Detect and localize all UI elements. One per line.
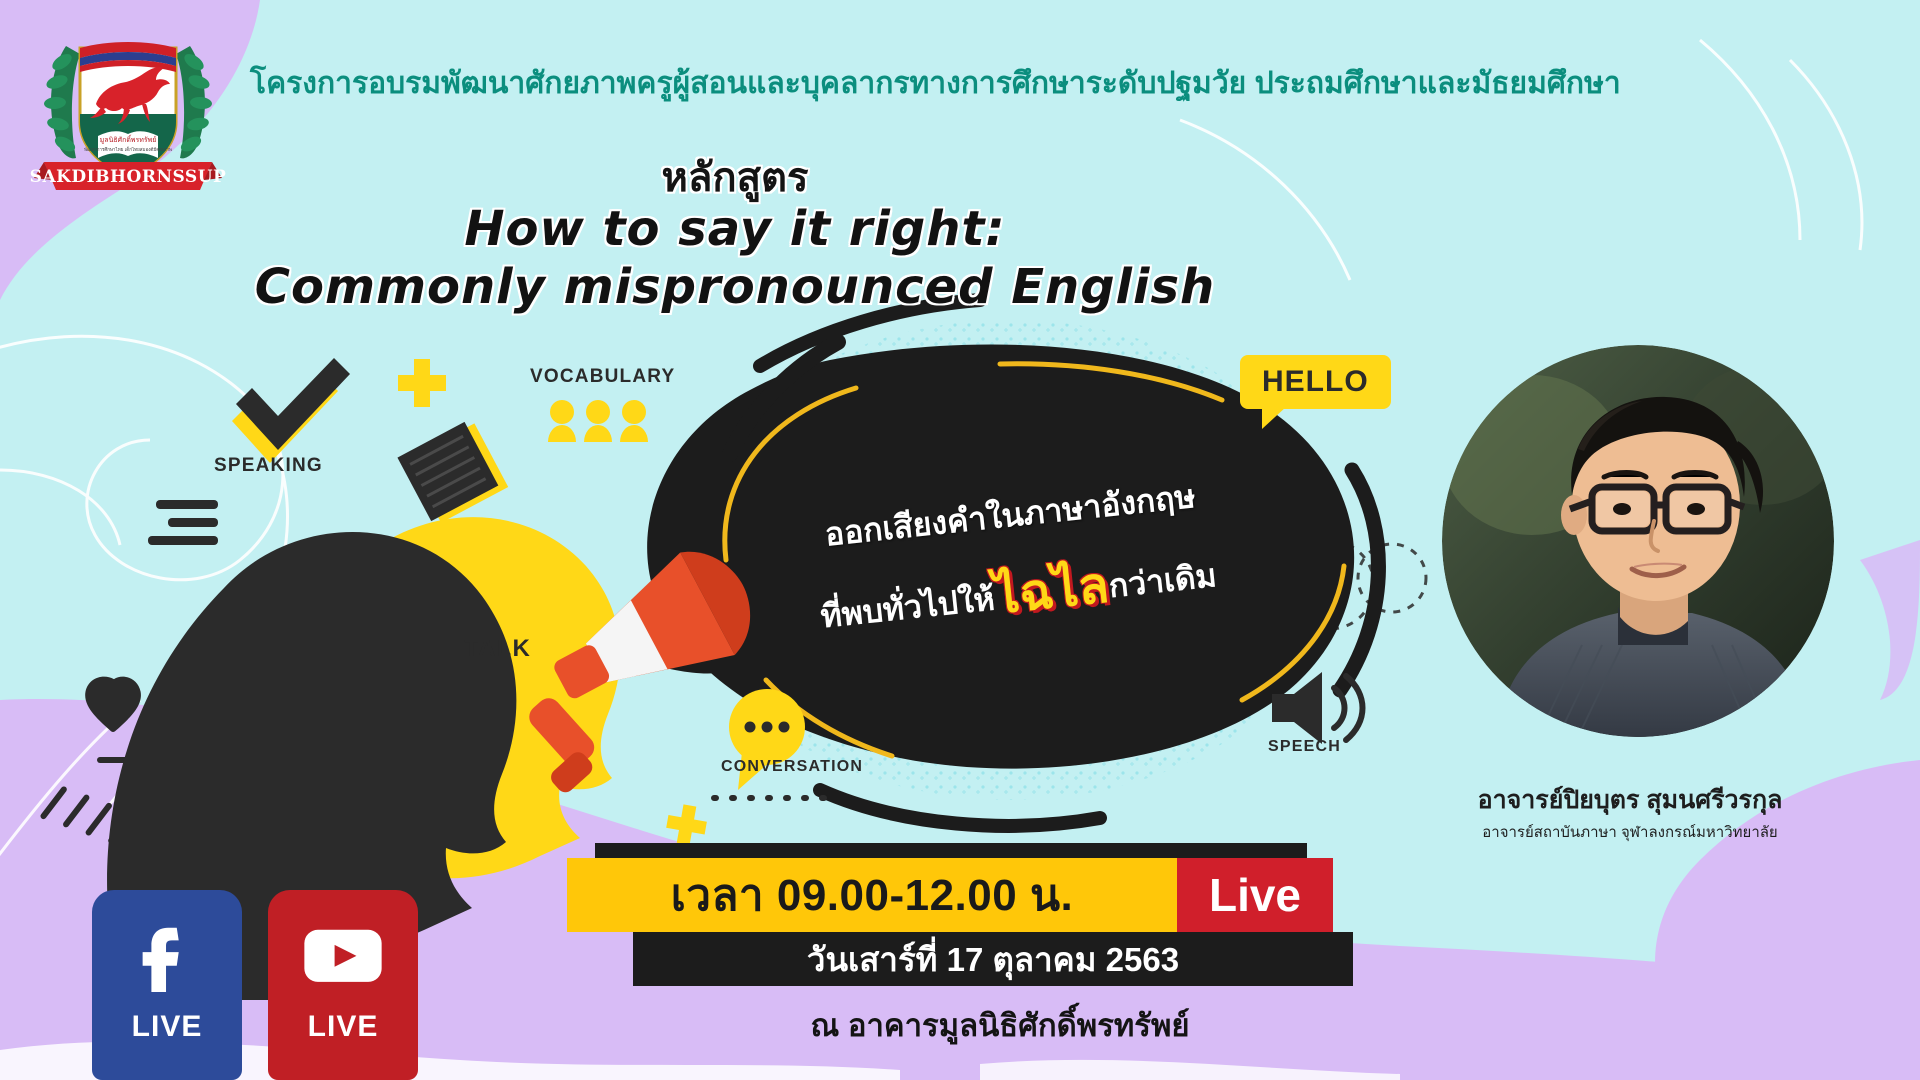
- event-program-header: โครงการอบรมพัฒนาศักยภาพครูผู้สอนและบุคลา…: [250, 60, 1890, 107]
- date-text: วันเสาร์ที่ 17 ตุลาคม 2563: [807, 933, 1179, 986]
- facebook-icon: [124, 912, 210, 998]
- youtube-live-button[interactable]: LIVE: [268, 890, 418, 1080]
- bubble-line2-prefix: ที่พบทั่วไปให้: [819, 580, 996, 634]
- youtube-icon: [300, 912, 386, 998]
- course-label: หลักสูตร: [0, 155, 1470, 201]
- label-speaking: SPEAKING: [214, 455, 323, 477]
- facebook-live-label: LIVE: [132, 1010, 203, 1044]
- course-title-block: หลักสูตร How to say it right: Commonly m…: [0, 155, 1470, 316]
- logo-org-name-th: มูลนิธิศักดิ์พรทรัพย์: [100, 134, 157, 144]
- date-box: วันเสาร์ที่ 17 ตุลาคม 2563: [633, 932, 1353, 986]
- course-title-line1: How to say it right:: [0, 201, 1470, 259]
- main-speech-bubble: ออกเสียงคำในภาษาอังกฤษ ที่พบทั่วไปให้ไฉไ…: [735, 340, 1295, 760]
- poster-canvas: มูลนิธิศักดิ์พรทรัพย์ พัฒนาการศึกษาไทย เ…: [0, 0, 1920, 1080]
- speaker-name: อาจารย์ปิยบุตร สุมนศรีวรกุล: [1380, 780, 1880, 820]
- bubble-line2-suffix: กว่าเดิม: [1107, 557, 1218, 604]
- venue-text: ณ อาคารมูลนิธิศักดิ์พรทรัพย์: [600, 1000, 1400, 1050]
- time-box: เวลา 09.00-12.00 น.: [567, 858, 1177, 932]
- bubble-highlight-word: ไฉไล: [991, 556, 1111, 624]
- label-talk: TALK: [464, 635, 531, 663]
- course-title-line2: Commonly mispronounced English: [0, 259, 1470, 317]
- label-conversation: CONVERSATION: [721, 758, 863, 776]
- youtube-live-label: LIVE: [308, 1010, 379, 1044]
- speaker-portrait-image: [1442, 345, 1834, 737]
- live-badge: Live: [1177, 858, 1333, 932]
- label-vocabulary: VOCABULARY: [530, 366, 675, 388]
- facebook-live-button[interactable]: LIVE: [92, 890, 242, 1080]
- live-badge-text: Live: [1209, 868, 1301, 922]
- time-text: เวลา 09.00-12.00 น.: [671, 860, 1074, 930]
- speaker-affiliation: อาจารย์สถาบันภาษา จุฬาลงกรณ์มหาวิทยาลัย: [1380, 820, 1880, 844]
- speaker-photo: [1442, 345, 1834, 737]
- bubble-text-group: ออกเสียงคำในภาษาอังกฤษ ที่พบทั่วไปให้ไฉไ…: [789, 467, 1242, 656]
